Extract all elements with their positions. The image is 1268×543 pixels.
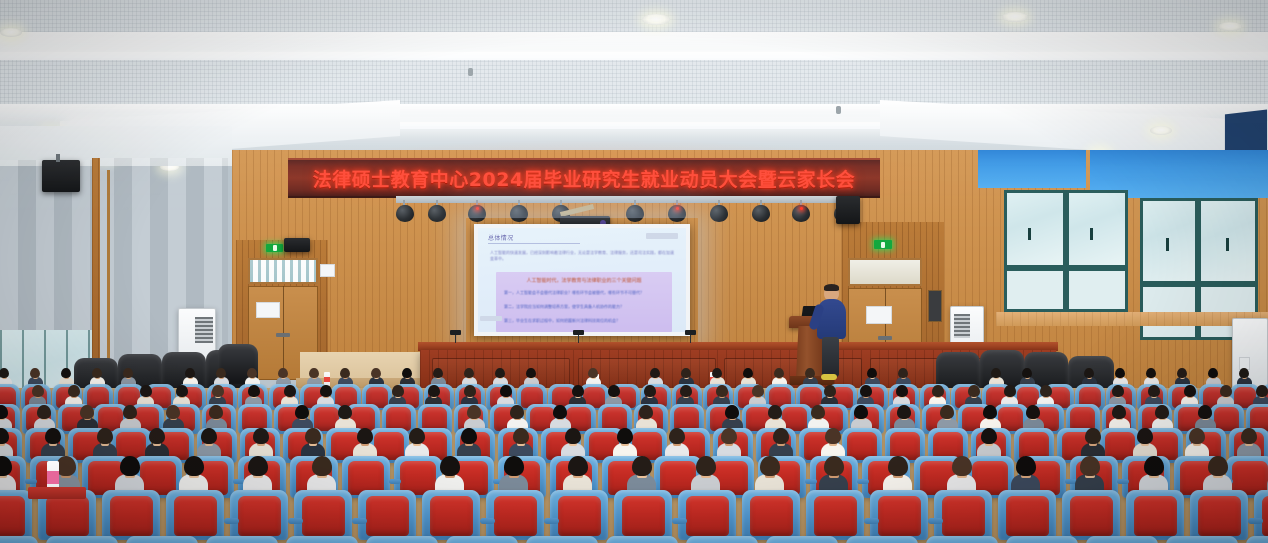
audience-head — [1022, 368, 1032, 378]
audience-head — [644, 385, 656, 397]
audience-head — [721, 428, 737, 444]
audience-head — [357, 428, 373, 444]
audience-head — [284, 385, 296, 397]
door-handle-left[interactable] — [276, 333, 290, 337]
transom-blinds-left — [250, 260, 316, 282]
audience-head — [1144, 456, 1164, 476]
window-handle-right-a[interactable] — [1028, 228, 1031, 240]
audience-head — [760, 456, 780, 476]
seat-armrest — [864, 518, 879, 524]
audience-head — [898, 368, 908, 378]
audience-head — [68, 385, 80, 397]
presenter-hair — [824, 284, 839, 291]
audience-head — [402, 368, 412, 378]
audience-head — [681, 368, 691, 378]
audience-head — [123, 405, 137, 419]
exit-running-man-icon — [881, 242, 885, 248]
table-microphone — [685, 330, 696, 335]
table-microphone — [450, 330, 461, 335]
audience-head — [0, 405, 8, 419]
audience-head — [716, 385, 728, 397]
window-right-lower-a — [1004, 268, 1066, 312]
audience-head — [991, 368, 1001, 378]
audience-head — [940, 405, 954, 419]
transom-glass-right — [850, 260, 920, 284]
audience-head — [1112, 405, 1126, 419]
audience-head — [968, 385, 980, 397]
table-microphone — [573, 330, 584, 335]
ceiling-downlight — [1150, 126, 1172, 135]
ac-vent-grille — [954, 314, 970, 338]
audience-head — [617, 428, 633, 444]
ceiling-downlight — [1218, 22, 1242, 31]
audience-head — [1040, 385, 1052, 397]
audience-head — [932, 385, 944, 397]
audience-head — [56, 456, 76, 476]
audience-head — [120, 456, 140, 476]
seat-backrest — [238, 496, 281, 536]
audience-head — [752, 385, 764, 397]
audience-head — [371, 368, 381, 378]
lighting-truss — [396, 196, 852, 203]
seat-armrest — [352, 518, 367, 524]
audience-head — [510, 405, 524, 419]
audience-head — [338, 405, 352, 419]
audience-head — [896, 385, 908, 397]
audience-head — [461, 428, 477, 444]
auditorium-seat[interactable] — [526, 536, 598, 543]
audience-head — [1004, 385, 1016, 397]
seat-backrest — [942, 496, 985, 536]
audience-head — [860, 385, 872, 397]
audience-head — [140, 385, 152, 397]
audience-head — [824, 456, 844, 476]
audience-head — [464, 368, 474, 378]
stage-spotlight — [510, 205, 528, 222]
audience-head — [867, 368, 877, 378]
seat-armrest — [480, 518, 495, 524]
seat-backrest — [814, 496, 857, 536]
seat-writing-tray[interactable] — [28, 487, 86, 499]
auditorium-seat[interactable] — [206, 536, 278, 543]
seat-backrest — [302, 496, 345, 536]
audience-head — [495, 368, 505, 378]
slide-highlight-box: 人工智能时代，法学教育与法律职业的三个关键问题 第一，人工智能会不会替代法律职业… — [496, 272, 672, 332]
audience-head — [312, 456, 332, 476]
audience-head — [305, 428, 321, 444]
door-sign-left — [256, 302, 280, 318]
seat-backrest — [750, 496, 793, 536]
window-handle-right-d[interactable] — [1226, 238, 1229, 251]
audience-head — [824, 385, 836, 397]
seat-armrest — [672, 518, 687, 524]
seat-backrest — [494, 496, 537, 536]
audience-head — [680, 385, 692, 397]
seat-armrest — [288, 518, 303, 524]
audience-head — [1256, 385, 1268, 397]
seat-backrest — [0, 496, 25, 536]
slide-box-title: 人工智能时代，法学教育与法律职业的三个关键问题 — [504, 277, 664, 284]
audience-head — [768, 405, 782, 419]
sprinkler-head — [836, 106, 841, 114]
audience-head — [526, 368, 536, 378]
seat-armrest — [544, 518, 559, 524]
stage-spotlight — [626, 205, 644, 222]
audience-head — [0, 368, 9, 378]
seat-backrest — [174, 496, 217, 536]
spotlight-indicator — [800, 207, 803, 210]
audience-head — [981, 428, 997, 444]
audience-head — [295, 405, 309, 419]
window-right-c — [1140, 198, 1198, 284]
audience-head — [608, 385, 620, 397]
audience-head — [1137, 428, 1153, 444]
audience-head — [1208, 368, 1218, 378]
ceiling-downlight — [1002, 12, 1028, 22]
audience-head — [952, 456, 972, 476]
audience-head — [1198, 405, 1212, 419]
seat-backrest — [1006, 496, 1049, 536]
audience-head — [32, 385, 44, 397]
ac-vent-grille — [195, 317, 213, 343]
audience-head — [123, 368, 133, 378]
window-handle-right-c[interactable] — [1166, 238, 1169, 251]
slide-bullet: 第二，法学院应当如何调整培养方案，使学生具备人机协作的能力？ — [504, 304, 666, 310]
audience-head — [1016, 456, 1036, 476]
audience-head — [309, 368, 319, 378]
audience-head — [565, 428, 581, 444]
spotlight-indicator — [676, 207, 679, 210]
audience-head — [805, 368, 815, 378]
audience-head — [1084, 368, 1094, 378]
exit-sign-left — [266, 244, 283, 252]
audience-head — [1220, 385, 1232, 397]
audience-head — [983, 405, 997, 419]
slide-corner-tag — [646, 233, 678, 239]
audience-head — [248, 456, 268, 476]
audience-head — [0, 428, 9, 444]
audience-head — [409, 428, 425, 444]
audience-head — [1241, 428, 1257, 444]
slide-footer-tag — [480, 316, 502, 321]
door-sign-right — [866, 306, 892, 324]
spotlight-indicator — [476, 207, 479, 210]
audience-head — [428, 385, 440, 397]
audience-head — [588, 368, 598, 378]
exit-running-man-icon — [273, 245, 277, 251]
presenter-legs — [822, 337, 839, 377]
audience-head — [1184, 385, 1196, 397]
audience-head — [504, 456, 524, 476]
auditorium-seat[interactable] — [1166, 536, 1238, 543]
slide-surface: 总体情况 人工智能的快速发展，已经深刻影响着法律行业，无论是法学教育、法律服务，… — [478, 228, 686, 332]
audience-head — [166, 405, 180, 419]
wall-speaker-left-inner — [284, 238, 310, 252]
audience-head — [743, 368, 753, 378]
audience-head — [1148, 385, 1160, 397]
audience-head — [209, 405, 223, 419]
stage-spotlight — [428, 205, 446, 222]
auditorium-seat[interactable] — [686, 536, 758, 543]
bottle-label — [47, 471, 59, 484]
audience-head — [888, 456, 908, 476]
audience-head — [1189, 428, 1205, 444]
window-right-lower-b — [1066, 268, 1128, 312]
auditorium-seat[interactable] — [1006, 536, 1078, 543]
audience-head — [340, 368, 350, 378]
audience-head — [467, 405, 481, 419]
stage-spotlight — [710, 205, 728, 222]
seat-armrest — [224, 518, 239, 524]
stage-spotlight — [396, 205, 414, 222]
audience-head — [825, 428, 841, 444]
auditorium-seat[interactable] — [1246, 536, 1268, 543]
seat-armrest — [389, 479, 401, 484]
seat-backrest — [558, 496, 601, 536]
audience-head — [92, 368, 102, 378]
auditorium-seat[interactable] — [1086, 536, 1158, 543]
audience-head — [0, 456, 12, 476]
audience-head — [464, 385, 476, 397]
audience-head — [185, 368, 195, 378]
auditorium-seat[interactable] — [366, 536, 438, 543]
audience-head — [568, 456, 588, 476]
window-handle-right-b[interactable] — [1090, 228, 1093, 240]
audience-head — [1080, 456, 1100, 476]
window-blind-right-mid[interactable] — [978, 150, 1086, 188]
microphone-stem — [690, 334, 691, 343]
audience-head — [37, 405, 51, 419]
presenter-shoe — [821, 374, 837, 380]
audience-head — [149, 428, 165, 444]
ceiling-downlight — [642, 14, 670, 25]
wall-switch-plate-left — [320, 264, 335, 277]
window-sill-right — [996, 312, 1268, 326]
auditorium-seat[interactable] — [0, 536, 38, 543]
audience-head — [1115, 368, 1125, 378]
audience-head — [392, 385, 404, 397]
seat-armrest — [805, 479, 817, 484]
audience-head — [773, 428, 789, 444]
audience-head — [1155, 405, 1169, 419]
audience-head — [216, 368, 226, 378]
seat-backrest — [1198, 496, 1241, 536]
audience-head — [440, 456, 460, 476]
audience-head — [320, 385, 332, 397]
seat-backrest — [878, 496, 921, 536]
auditorium-seat[interactable] — [606, 536, 678, 543]
audience-head — [278, 368, 288, 378]
slide-bullet: 第三，毕业生在求职过程中，如何把握新兴法律科技岗位的机会？ — [504, 318, 666, 324]
audience-head — [45, 428, 61, 444]
presenter — [812, 284, 848, 380]
auditorium-photo: 法律硕士教育中心2024届毕业研究生就业动员大会暨云家长会 总体情况 人工智能的… — [0, 0, 1268, 543]
window-right-b — [1066, 190, 1128, 268]
wall-notice-board-right — [928, 290, 942, 322]
auditorium-seat[interactable] — [446, 536, 518, 543]
audience-head — [1239, 368, 1249, 378]
wall-speaker-left — [42, 160, 80, 192]
led-banner: 法律硕士教育中心2024届毕业研究生就业动员大会暨云家长会 — [288, 158, 880, 198]
audience-head — [572, 385, 584, 397]
microphone-stem — [455, 334, 456, 343]
audience-head — [712, 368, 722, 378]
audience-head — [897, 405, 911, 419]
audience-head — [639, 405, 653, 419]
audience-head — [500, 385, 512, 397]
audience-head — [1146, 368, 1156, 378]
auditorium-seat[interactable] — [926, 536, 998, 543]
exit-sign-right — [874, 240, 892, 249]
audience-head — [212, 385, 224, 397]
auditorium-seat[interactable] — [126, 536, 198, 543]
audience-head — [774, 368, 784, 378]
audience-head — [811, 405, 825, 419]
audience-head — [97, 428, 113, 444]
seat-armrest — [25, 479, 37, 484]
audience-head — [696, 456, 716, 476]
seat-backrest — [366, 496, 409, 536]
audience-head — [247, 368, 257, 378]
seat-backrest — [622, 496, 665, 536]
audience-head — [1026, 405, 1040, 419]
seat-backrest — [430, 496, 473, 536]
speaker-mount-bracket — [56, 154, 60, 162]
seat-armrest — [928, 518, 943, 524]
audience-head — [553, 405, 567, 419]
audience-head — [854, 405, 868, 419]
door-handle-right[interactable] — [878, 336, 892, 340]
seat-armrest — [857, 479, 869, 484]
audience-head — [1208, 456, 1228, 476]
audience-head — [650, 368, 660, 378]
audience-head — [61, 368, 71, 378]
audience-head — [184, 456, 204, 476]
window-right-a — [1004, 190, 1066, 268]
auditorium-seat[interactable] — [846, 536, 918, 543]
seat-armrest — [1248, 518, 1263, 524]
auditorium-seat[interactable] — [46, 536, 118, 543]
audience-head — [1177, 368, 1187, 378]
seat-backrest — [1070, 496, 1113, 536]
slide-title: 总体情况 — [488, 233, 514, 242]
audience-head — [513, 428, 529, 444]
audience-head — [80, 405, 94, 419]
bottle-label — [324, 377, 330, 382]
audience-head — [433, 368, 443, 378]
ceiling-tile-field-upper — [0, 0, 1268, 36]
seat-backrest — [686, 496, 729, 536]
audience-head — [1112, 385, 1124, 397]
seat-backrest — [1262, 496, 1268, 536]
audience-head — [176, 385, 188, 397]
ceiling-downlight — [0, 28, 22, 37]
seat-backrest — [1134, 496, 1177, 536]
slide-title-rule — [488, 243, 580, 244]
wall-speaker-right — [836, 196, 860, 224]
audience-head — [253, 428, 269, 444]
audience-head — [725, 405, 739, 419]
ceiling-tile-field-mid — [0, 60, 1268, 106]
seat-armrest — [1117, 479, 1129, 484]
audience-head — [1085, 428, 1101, 444]
sprinkler-head — [468, 68, 473, 76]
audience-head — [248, 385, 260, 397]
audience-head — [30, 368, 40, 378]
auditorium-seat[interactable] — [286, 536, 358, 543]
audience-head — [201, 428, 217, 444]
audience-head — [669, 428, 685, 444]
microphone-stem — [578, 334, 579, 343]
auditorium-seat[interactable] — [766, 536, 838, 543]
banner-text: 法律硕士教育中心2024届毕业研究生就业动员大会暨云家长会 — [313, 165, 855, 192]
audience-head — [632, 456, 652, 476]
seat-backrest — [110, 496, 153, 536]
stage-spotlight — [752, 205, 770, 222]
slide-bullet: 第一，人工智能会不会替代法律职业？哪些环节会被替代，哪些环节不可替代？ — [504, 290, 666, 296]
slide-paragraph: 人工智能的快速发展，已经深刻影响着法律行业，无论是法学教育、法律服务，还是司法实… — [490, 250, 674, 262]
seat-backrest — [46, 496, 89, 536]
